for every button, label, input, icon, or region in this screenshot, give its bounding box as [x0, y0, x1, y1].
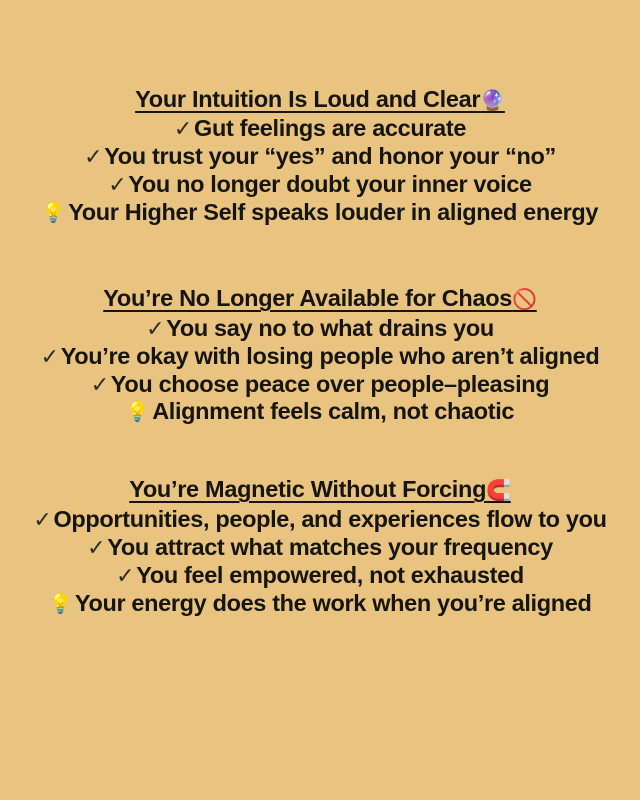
list-item-text: You attract what matches your frequency: [107, 534, 553, 560]
list-item: ✓Opportunities, people, and experiences …: [18, 506, 622, 534]
list-item-text: Gut feelings are accurate: [194, 115, 466, 141]
section-intuition: Your Intuition Is Loud and Clear🔮 ✓Gut f…: [18, 86, 622, 227]
lightbulb-icon: 💡: [49, 594, 75, 615]
lightbulb-icon: 💡: [126, 402, 152, 423]
list-item: ✓You’re okay with losing people who aren…: [18, 343, 622, 371]
list-item: ✓You no longer doubt your inner voice: [18, 171, 622, 199]
check-icon: ✓: [174, 116, 194, 141]
check-icon: ✓: [41, 344, 61, 369]
lightbulb-icon: 💡: [42, 203, 68, 224]
check-icon: ✓: [33, 507, 53, 532]
section-heading: Your Intuition Is Loud and Clear🔮: [18, 86, 622, 112]
list-item: ✓You say no to what drains you: [18, 315, 622, 343]
list-item: 💡Your energy does the work when you’re a…: [18, 590, 622, 618]
list-item: 💡Your Higher Self speaks louder in align…: [18, 199, 622, 227]
section-heading-text: You’re Magnetic Without Forcing: [129, 476, 486, 502]
list-item: ✓You feel empowered, not exhausted: [18, 562, 622, 590]
list-item: ✓You trust your “yes” and honor your “no…: [18, 143, 622, 171]
list-item-text: Your energy does the work when you’re al…: [75, 590, 592, 616]
list-item-text: You say no to what drains you: [166, 315, 494, 341]
list-item: 💡Alignment feels calm, not chaotic: [18, 398, 622, 426]
poster-canvas: Your Intuition Is Loud and Clear🔮 ✓Gut f…: [0, 0, 640, 800]
check-icon: ✓: [146, 316, 166, 341]
list-item-text: You trust your “yes” and honor your “no”: [104, 143, 556, 169]
section-heading: You’re No Longer Available for Chaos🚫: [18, 285, 622, 311]
check-icon: ✓: [87, 535, 107, 560]
list-item-text: You’re okay with losing people who aren’…: [61, 343, 600, 369]
section-chaos: You’re No Longer Available for Chaos🚫 ✓Y…: [18, 285, 622, 426]
check-icon: ✓: [84, 144, 104, 169]
list-item: ✓Gut feelings are accurate: [18, 115, 622, 143]
top-spacer: [18, 0, 622, 86]
section-magnetic: You’re Magnetic Without Forcing🧲 ✓Opport…: [18, 476, 622, 617]
list-item: ✓You choose peace over people–pleasing: [18, 371, 622, 399]
check-icon: ✓: [108, 172, 128, 197]
list-item-text: Your Higher Self speaks louder in aligne…: [68, 199, 598, 225]
list-item-text: You choose peace over people–pleasing: [111, 371, 550, 397]
section-gap: [18, 227, 622, 285]
section-heading: You’re Magnetic Without Forcing🧲: [18, 476, 622, 502]
magnet-icon: 🧲: [486, 480, 511, 502]
list-item-text: Alignment feels calm, not chaotic: [152, 398, 514, 424]
list-item-text: You feel empowered, not exhausted: [136, 562, 524, 588]
check-icon: ✓: [116, 563, 136, 588]
list-item-text: You no longer doubt your inner voice: [128, 171, 531, 197]
crystal-ball-icon: 🔮: [480, 90, 505, 112]
section-heading-text: Your Intuition Is Loud and Clear: [135, 86, 480, 112]
section-gap: [18, 426, 622, 476]
check-icon: ✓: [91, 372, 111, 397]
prohibited-icon: 🚫: [512, 289, 537, 311]
list-item: ✓You attract what matches your frequency: [18, 534, 622, 562]
section-heading-text: You’re No Longer Available for Chaos: [103, 285, 512, 311]
list-item-text: Opportunities, people, and experiences f…: [53, 506, 606, 532]
